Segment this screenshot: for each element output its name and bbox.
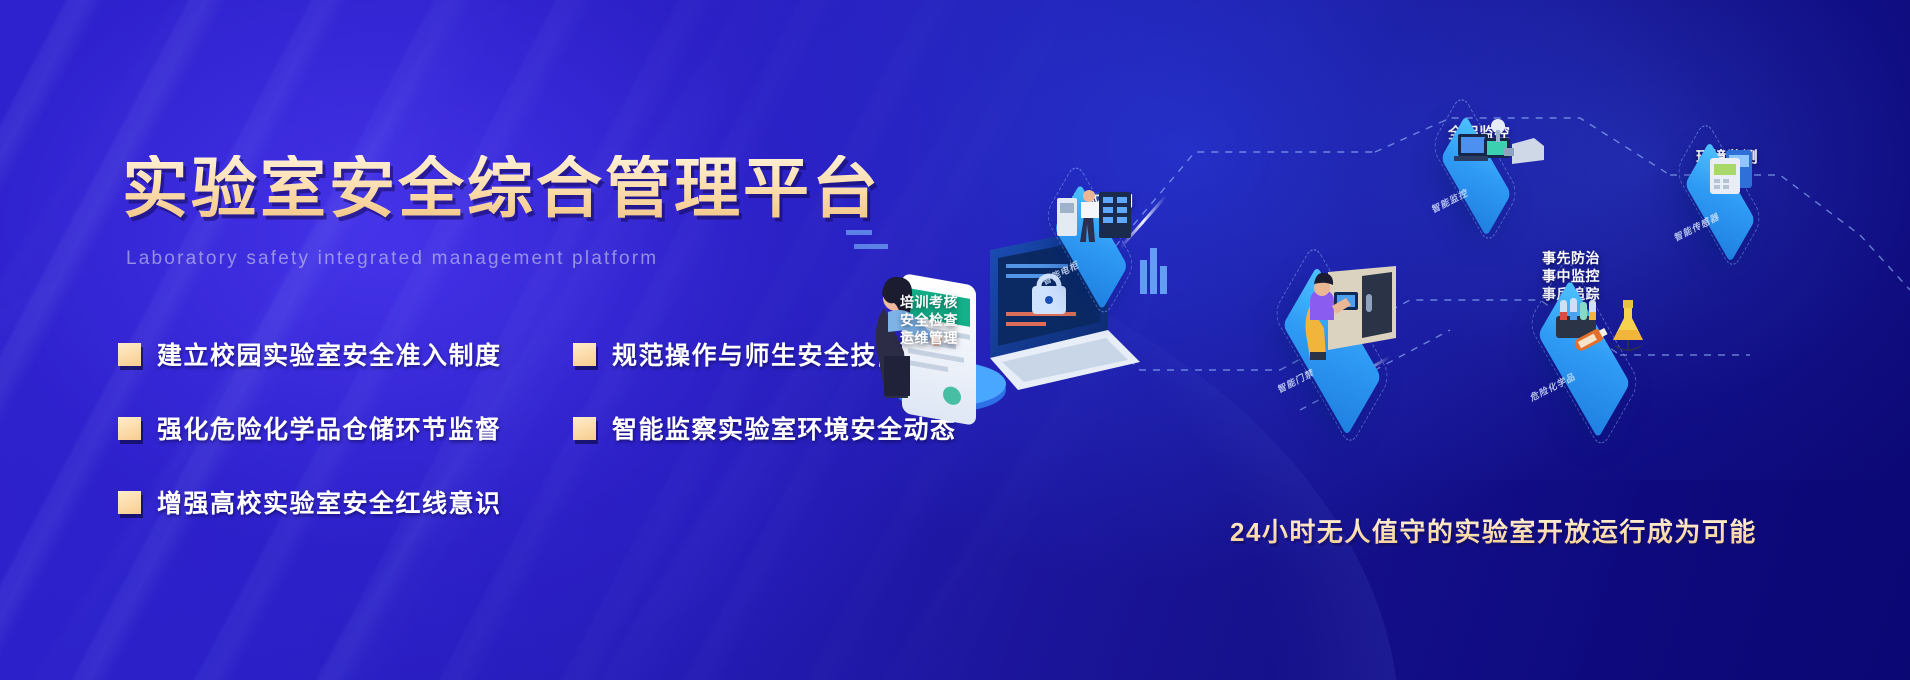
page-subtitle: Laboratory safety integrated management … <box>126 248 658 270</box>
console-caption-line-2: 安全检查 <box>900 312 958 330</box>
tile-caption: 智能电柜 <box>1041 257 1080 288</box>
banner-root: 实验室安全综合管理平台 Laboratory safety integrated… <box>0 0 1910 680</box>
smart-cabinet-icon <box>1041 180 1171 260</box>
bullet-square-icon <box>118 491 141 514</box>
feature-label: 增强高校实验室安全红线意识 <box>157 484 502 520</box>
list-item: 建立校园实验室安全准入制度 <box>118 336 502 372</box>
isometric-diagram: 培训考核 安全检查 运维管理 授权使用 智能电柜 <box>980 0 1910 680</box>
connector-line <box>1860 235 1910 290</box>
page-title: 实验室安全综合管理平台 <box>122 155 881 221</box>
tile-caption: 智能监控 <box>1430 185 1469 216</box>
tile-smart-monitoring: 智能监控 <box>1432 152 1550 216</box>
console-caption: 培训考核 安全检查 运维管理 <box>900 294 958 348</box>
tile-smart-cabinet: 智能电柜 <box>1045 222 1165 288</box>
chemicals-icon <box>1536 294 1696 374</box>
sensor-device-icon <box>1686 146 1806 210</box>
tile-smart-access: 智能门禁 <box>1270 318 1430 406</box>
flask-icon <box>1613 300 1643 350</box>
feature-label: 建立校园实验室安全准入制度 <box>157 336 502 372</box>
access-door-icon <box>1284 266 1454 376</box>
console-caption-line-3: 运维管理 <box>900 330 958 348</box>
tile-hazardous-chemicals: 危险化学品 <box>1526 328 1676 410</box>
bullet-square-icon <box>573 417 596 440</box>
bullet-square-icon <box>573 343 596 366</box>
feature-row: 增强高校实验室安全红线意识 <box>118 484 968 558</box>
console-caption-line-1: 培训考核 <box>900 294 958 312</box>
monitoring-screens-icon <box>1434 118 1564 188</box>
bullet-square-icon <box>118 343 141 366</box>
bottom-caption: 24小时无人值守的实验室开放运行成为可能 <box>1230 512 1757 549</box>
feature-label: 强化危险化学品仓储环节监督 <box>157 410 502 446</box>
tile-smart-sensor: 智能传感器 <box>1676 178 1794 242</box>
bullet-square-icon <box>118 417 141 440</box>
list-item: 强化危险化学品仓储环节监督 <box>118 410 502 446</box>
list-item: 增强高校实验室安全红线意识 <box>118 484 502 520</box>
